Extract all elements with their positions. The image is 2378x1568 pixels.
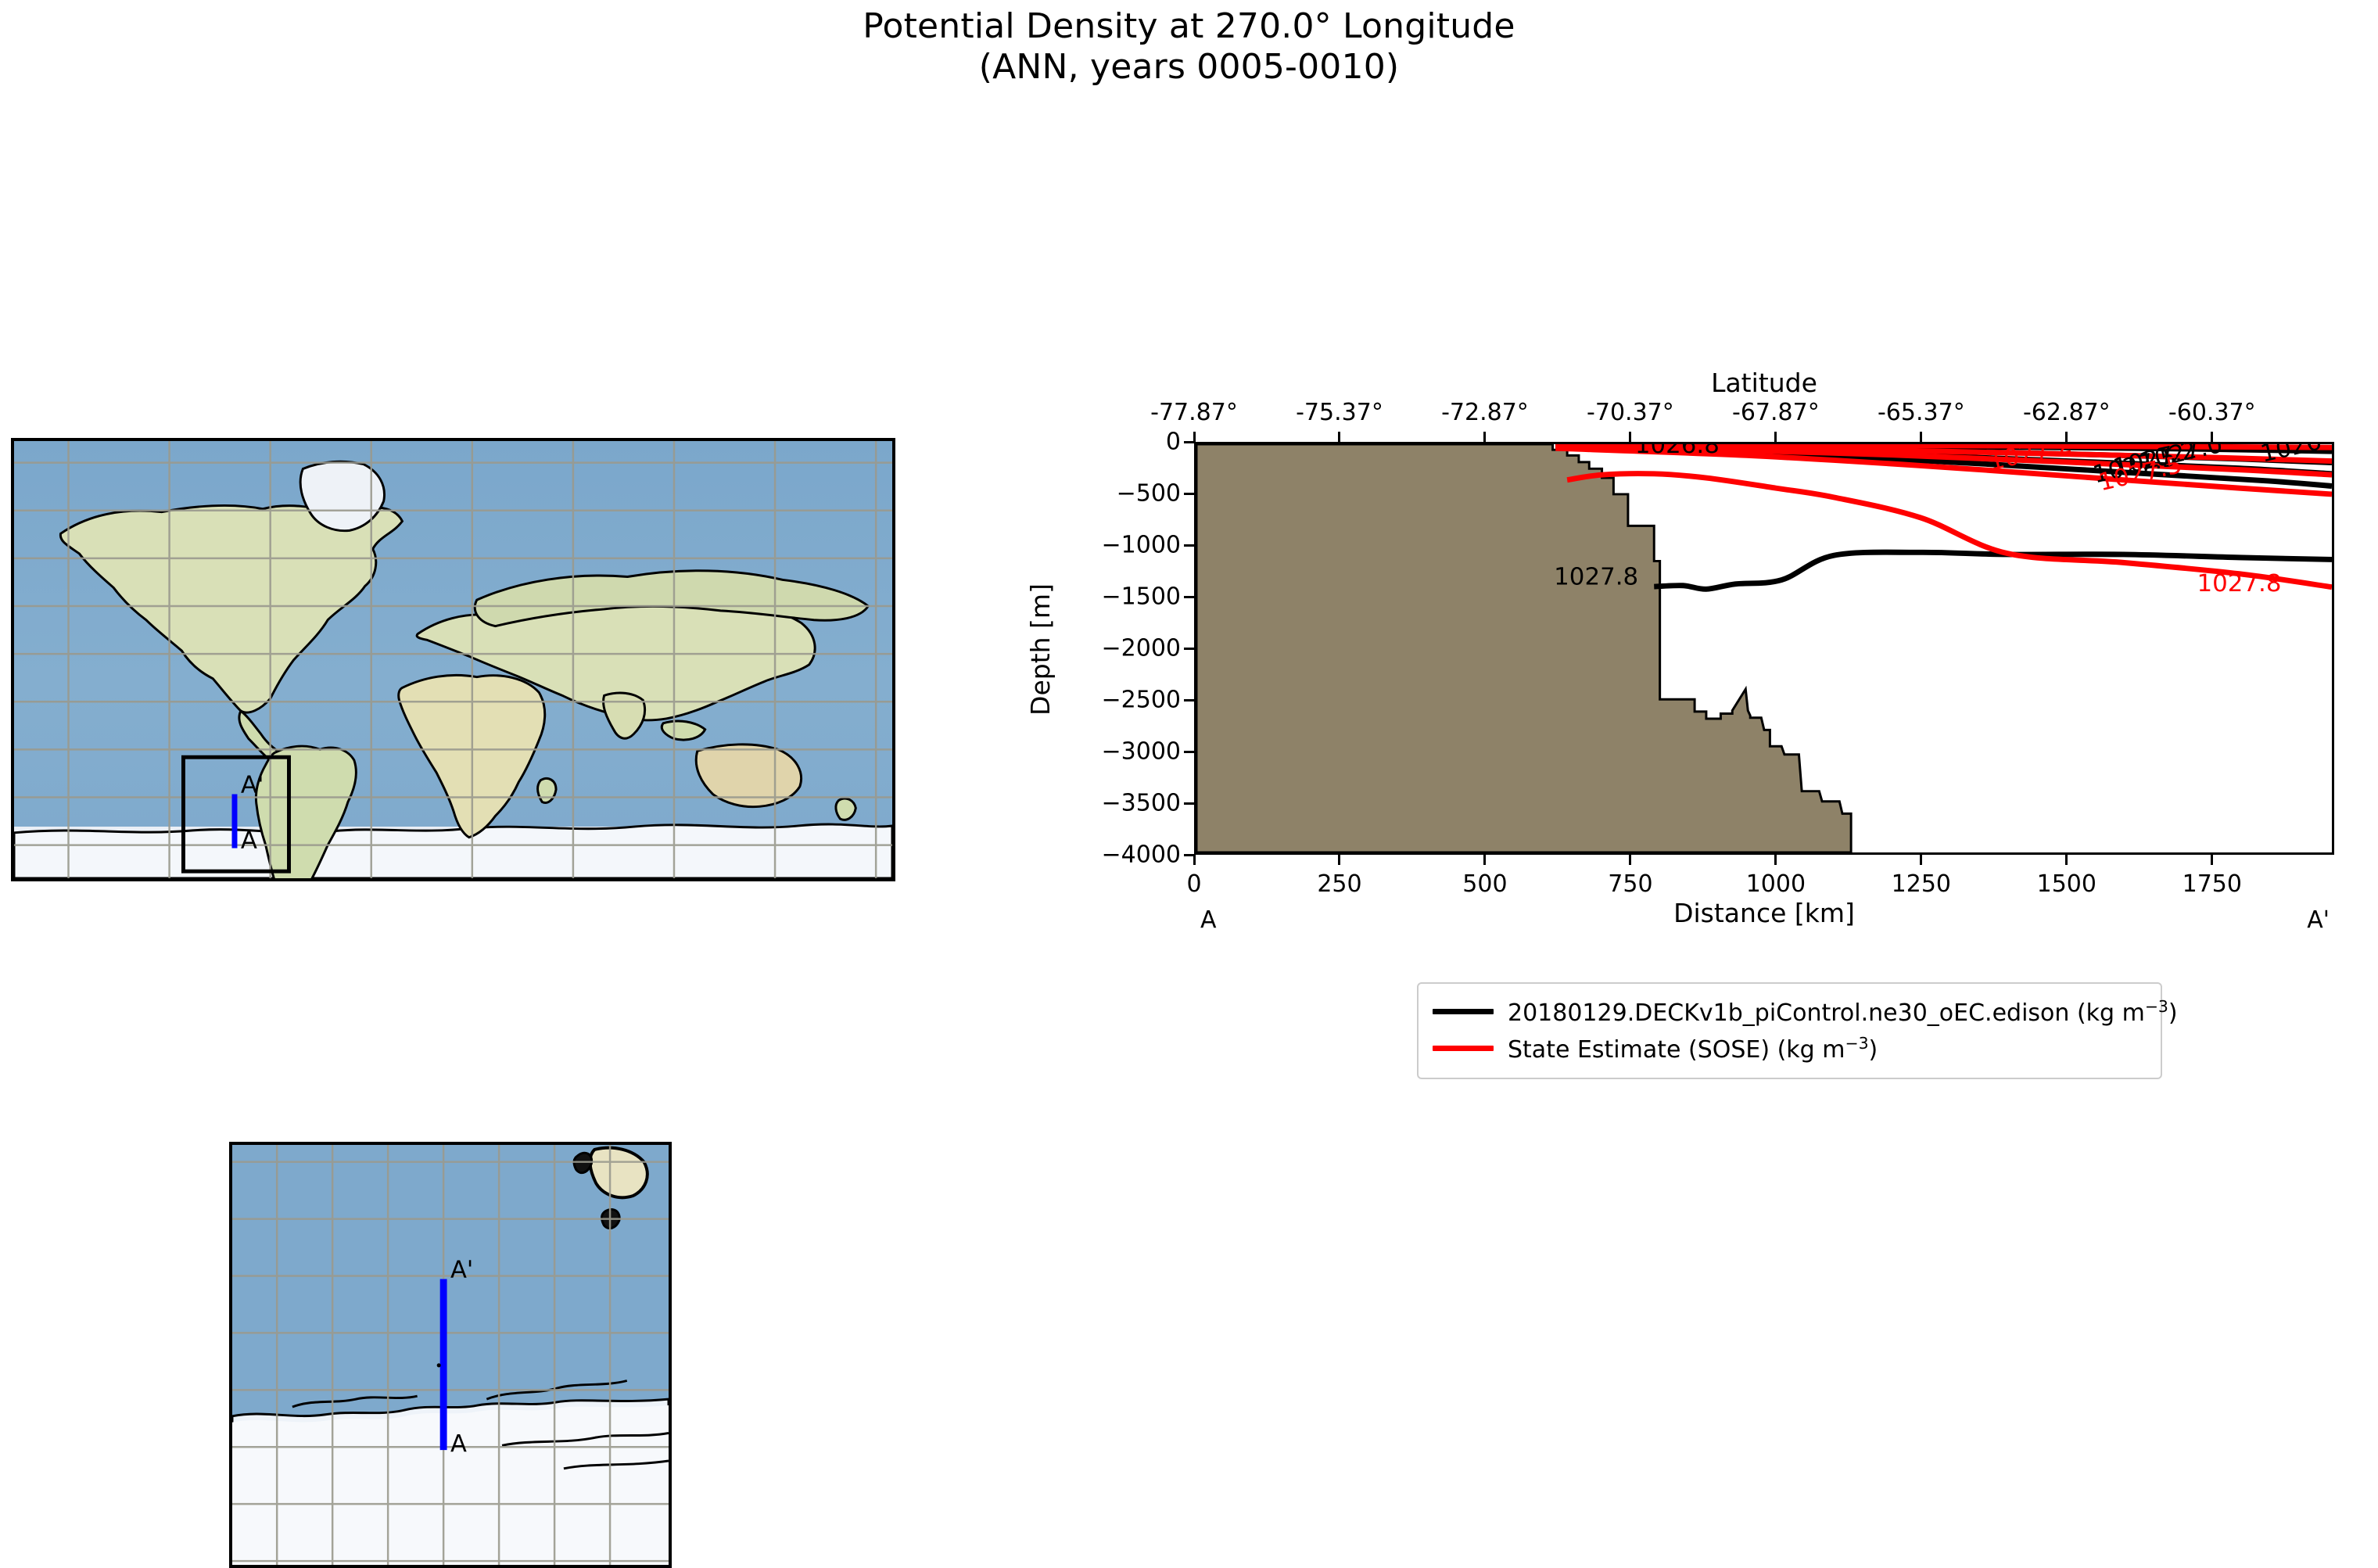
svg-text:A: A <box>450 1430 467 1458</box>
xtick-label-1750: 1750 <box>2183 870 2242 898</box>
lattick-mark-2 <box>1483 432 1486 442</box>
world-overview-map[interactable]: A' A <box>11 438 895 881</box>
ytick-label--3000: −3000 <box>1102 738 1181 766</box>
ytick-mark--3000 <box>1184 751 1194 753</box>
lattick-mark-5 <box>1920 432 1922 442</box>
lattick-mark-4 <box>1774 432 1777 442</box>
legend-label-model: 20180129.DECKv1b_piControl.ne30_oEC.edis… <box>1508 997 2178 1027</box>
endpoint-label-a-prime: A' <box>2307 906 2330 934</box>
detail-map-graphic: A' A <box>232 1145 669 1565</box>
contour-label-1027.8: 1027.8 <box>1554 563 1638 591</box>
xtick-mark-250 <box>1338 855 1340 865</box>
xtick-mark-1250 <box>1920 855 1922 865</box>
bathymetry-path <box>1196 444 1851 852</box>
ytick-label--1000: −1000 <box>1102 532 1181 559</box>
endpoint-label-a: A <box>1200 906 1217 934</box>
cross-section-graphic: 10261026.81027.01027.21027.51027.81027.2… <box>1196 444 2332 852</box>
distance-axis-title: Distance [km] <box>1194 898 2334 928</box>
xtick-mark-1750 <box>2211 855 2213 865</box>
ytick-label--4000: −4000 <box>1102 841 1181 869</box>
svg-text:A': A' <box>241 772 264 799</box>
xtick-label-750: 750 <box>1608 870 1652 898</box>
svg-text:A: A <box>241 827 257 855</box>
legend-swatch-model <box>1433 1009 1494 1014</box>
lattick-label-3: -70.37° <box>1587 399 1674 426</box>
xtick-label-250: 250 <box>1317 870 1361 898</box>
ytick-mark--3500 <box>1184 802 1194 805</box>
xtick-mark-1500 <box>2065 855 2068 865</box>
xtick-label-0: 0 <box>1186 870 1201 898</box>
svg-text:A': A' <box>450 1256 473 1283</box>
lattick-label-1: -75.37° <box>1296 399 1383 426</box>
contour-label-1027.8: 1027.8 <box>2197 569 2281 597</box>
lattick-label-5: -65.37° <box>1878 399 1965 426</box>
ytick-label-0: 0 <box>1166 429 1181 456</box>
legend-label-sose: State Estimate (SOSE) (kg m−3) <box>1508 1034 1878 1064</box>
xtick-label-1000: 1000 <box>1746 870 1806 898</box>
ytick-mark--2500 <box>1184 699 1194 701</box>
lattick-mark-1 <box>1338 432 1340 442</box>
contour-label-1026.8: 1026.8 <box>1635 444 1720 459</box>
xtick-mark-750 <box>1629 855 1631 865</box>
lattick-mark-3 <box>1629 432 1631 442</box>
xtick-label-500: 500 <box>1462 870 1507 898</box>
ytick-label--1500: −1500 <box>1102 583 1181 611</box>
ytick-mark-0 <box>1184 441 1194 443</box>
ytick-mark--2000 <box>1184 648 1194 650</box>
legend-item-model[interactable]: 20180129.DECKv1b_piControl.ne30_oEC.edis… <box>1433 993 2147 1030</box>
xtick-mark-0 <box>1193 855 1196 865</box>
xtick-label-1500: 1500 <box>2037 870 2096 898</box>
cross-section-axes: 10261026.81027.01027.21027.51027.81027.2… <box>1194 442 2334 855</box>
page-title: Potential Density at 270.0° Longitude (A… <box>0 6 2378 88</box>
legend-swatch-sose <box>1433 1046 1494 1051</box>
xtick-mark-500 <box>1483 855 1486 865</box>
ytick-label--2500: −2500 <box>1102 687 1181 714</box>
antarctic-detail-map[interactable]: A' A <box>229 1142 672 1568</box>
xtick-label-1250: 1250 <box>1892 870 1951 898</box>
ytick-label--500: −500 <box>1117 480 1181 508</box>
lattick-label-4: -67.87° <box>1732 399 1820 426</box>
lattick-label-6: -62.87° <box>2023 399 2111 426</box>
xtick-mark-1000 <box>1774 855 1777 865</box>
cross-section-plot[interactable]: 10261026.81027.01027.21027.51027.81027.2… <box>1194 442 2334 855</box>
world-map-graphic: A' A <box>14 441 892 878</box>
ytick-mark--4000 <box>1184 854 1194 856</box>
bathymetry-fill <box>1196 444 1851 852</box>
ytick-mark--1000 <box>1184 544 1194 547</box>
lattick-mark-6 <box>2065 432 2068 442</box>
ytick-label--2000: −2000 <box>1102 635 1181 662</box>
lattick-mark-7 <box>2211 432 2213 442</box>
ytick-label--3500: −3500 <box>1102 790 1181 817</box>
ytick-mark--1500 <box>1184 596 1194 598</box>
lattick-label-7: -60.37° <box>2168 399 2256 426</box>
depth-tick-labels: 0−500−1000−1500−2000−2500−3000−3500−4000 <box>1032 0 1181 1568</box>
lattick-label-2: -72.87° <box>1441 399 1529 426</box>
ytick-mark--500 <box>1184 493 1194 495</box>
latitude-axis-title: Latitude <box>1194 368 2334 398</box>
title-line-1: Potential Density at 270.0° Longitude <box>863 6 1515 46</box>
legend-item-sose[interactable]: State Estimate (SOSE) (kg m−3) <box>1433 1030 2147 1067</box>
density-contours: 10261026.81027.01027.21027.51027.81027.2… <box>1554 444 2332 597</box>
legend: 20180129.DECKv1b_piControl.ne30_oEC.edis… <box>1417 982 2162 1079</box>
title-line-2: (ANN, years 0005-0010) <box>0 47 2378 88</box>
